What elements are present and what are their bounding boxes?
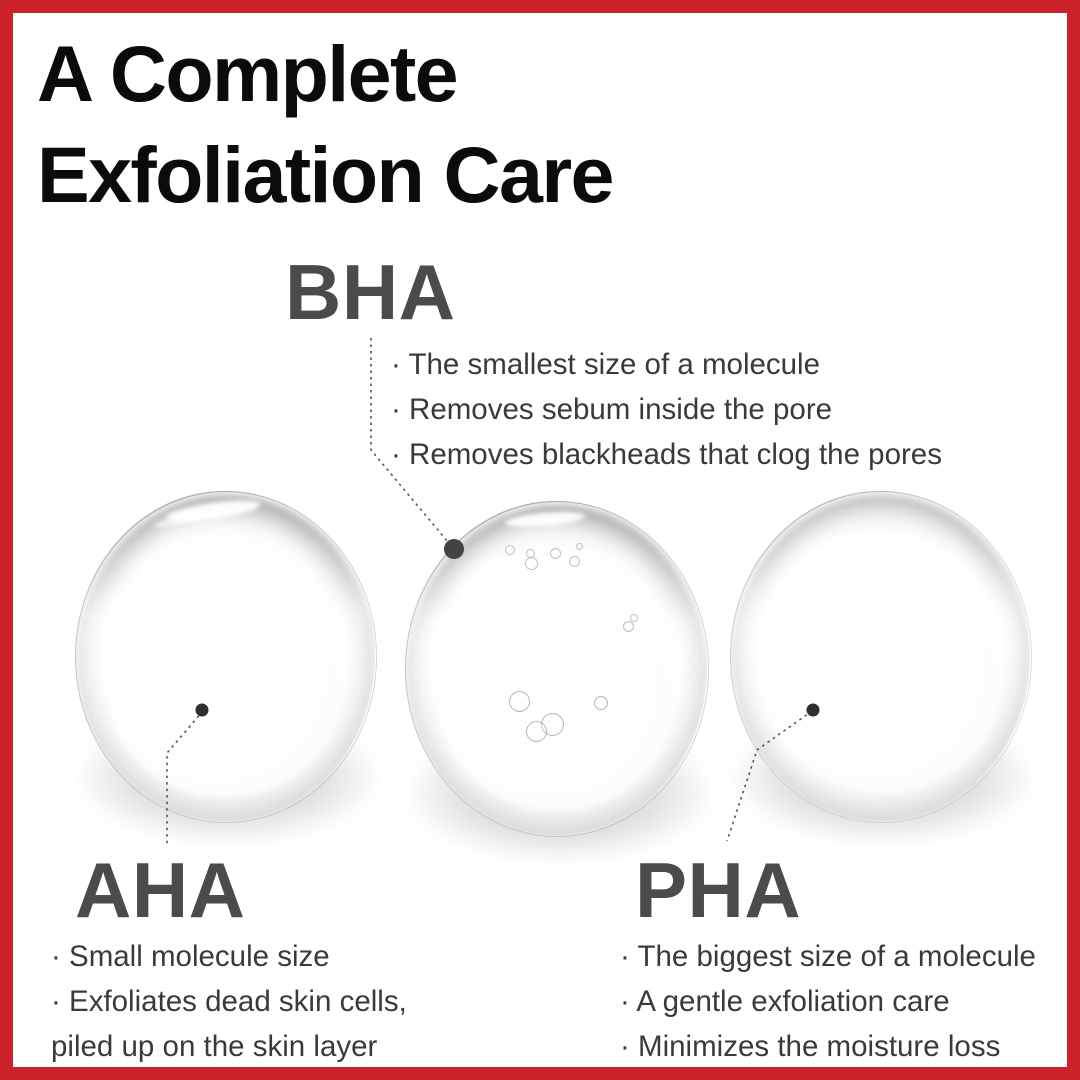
pha-bullet-1: · The biggest size of a molecule [620, 935, 1060, 980]
bha-bubble [509, 691, 530, 712]
poster-inner-canvas: A Complete Exfoliation Care [13, 13, 1067, 1067]
aha-drop-rim [75, 491, 377, 823]
pha-bullet-2: · A gentle exfoliation care [620, 980, 1060, 1025]
pha-bullet-list: · The biggest size of a molecule · A gen… [620, 935, 1060, 1067]
bha-bubble [526, 721, 547, 742]
poster-frame: A Complete Exfoliation Care [0, 0, 1080, 1080]
aha-bullet-2: · Exfoliates dead skin cells, piled up o… [51, 980, 451, 1067]
aha-bullet-1: · Small molecule size [51, 935, 451, 980]
bha-bullet-1: · The smallest size of a molecule [391, 343, 1011, 388]
bha-bullet-3: · Removes blackheads that clog the pores [391, 433, 1011, 478]
bha-bullet-2: · Removes sebum inside the pore [391, 388, 1011, 433]
pha-bullet-3: · Minimizes the moisture loss [620, 1025, 1060, 1067]
bha-bubble [630, 614, 638, 622]
bha-bubble [623, 621, 634, 632]
bha-bubble [576, 543, 583, 550]
pha-drop-rim [730, 491, 1032, 823]
aha-heading: AHA [75, 851, 246, 929]
bha-bubble [594, 696, 608, 710]
bha-heading: BHA [285, 253, 456, 331]
aha-bullet-list: · Small molecule size · Exfoliates dead … [51, 935, 451, 1067]
bha-bubble [569, 556, 580, 567]
bha-bubble [550, 548, 561, 559]
bha-bubble [505, 545, 515, 555]
pha-heading: PHA [635, 851, 801, 929]
bha-bullet-list: · The smallest size of a molecule · Remo… [391, 343, 1011, 477]
bha-bubble [525, 557, 538, 570]
